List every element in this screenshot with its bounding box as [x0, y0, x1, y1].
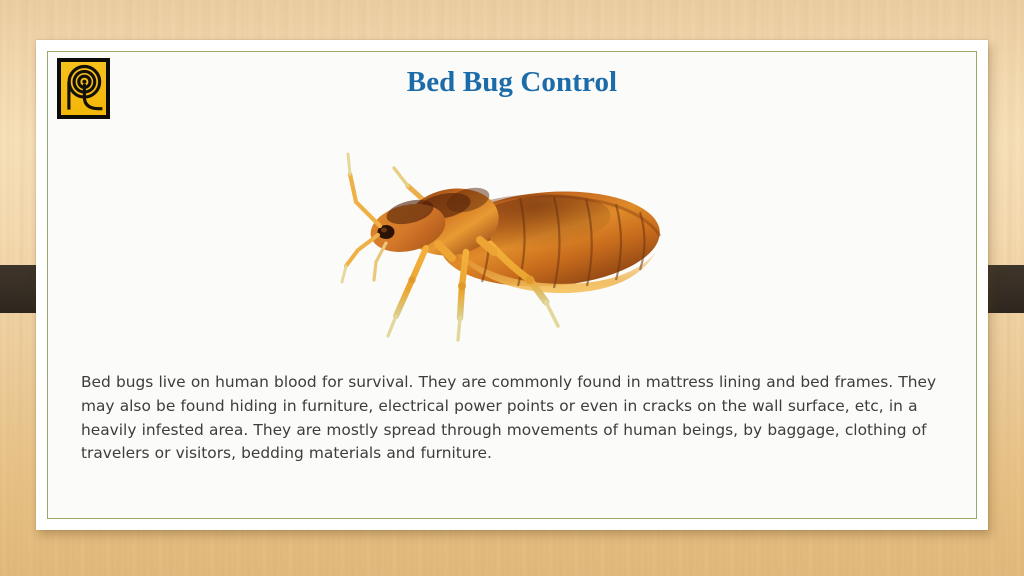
bed-bug-illustration	[334, 140, 674, 345]
bed-bug-image	[334, 140, 674, 345]
slide-title: Bed Bug Control	[36, 66, 988, 99]
slide-content: Bed Bug Control	[36, 40, 988, 530]
slide-frame: Bed Bug Control	[36, 40, 988, 530]
slide-body-text: Bed bugs live on human blood for surviva…	[81, 371, 953, 466]
